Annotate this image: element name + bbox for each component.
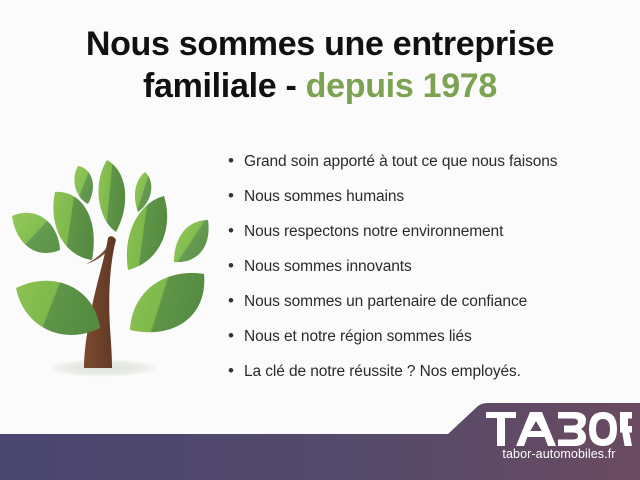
- bullet-icon: •: [228, 152, 244, 169]
- list-item-label: Nous sommes un partenaire de confiance: [244, 293, 527, 311]
- bullet-icon: •: [228, 187, 244, 204]
- list-item: • Nous sommes un partenaire de confiance: [228, 292, 628, 327]
- list-item: • Nous respectons notre environnement: [228, 222, 628, 257]
- list-item: • Nous et notre région sommes liés: [228, 327, 628, 362]
- list-item: • La clé de notre réussite ? Nos employé…: [228, 362, 628, 397]
- page-title: Nous sommes une entreprise familiale - d…: [0, 26, 640, 104]
- tree-leaf-mid-right: [174, 220, 209, 262]
- tree-leaf-lower-left: [16, 281, 100, 335]
- list-item-label: Nous sommes humains: [244, 188, 404, 206]
- list-item: • Grand soin apporté à tout ce que nous …: [228, 152, 628, 187]
- bullet-icon: •: [228, 362, 244, 379]
- title-line-1: Nous sommes une entreprise: [0, 26, 640, 62]
- tree-illustration: [8, 150, 213, 390]
- title-dash: -: [285, 67, 296, 105]
- tree-leaf-upper-right: [127, 196, 167, 270]
- tabor-wordmark-icon: [486, 412, 632, 446]
- list-item-label: La clé de notre réussite ? Nos employés.: [244, 363, 521, 381]
- list-item-label: Nous sommes innovants: [244, 258, 412, 276]
- list-item-label: Grand soin apporté à tout ce que nous fa…: [244, 153, 557, 171]
- slide-canvas: Nous sommes une entreprise familiale - d…: [0, 0, 640, 480]
- list-item: • Nous sommes humains: [228, 187, 628, 222]
- tree-leaf-top-center: [98, 160, 125, 232]
- brand-logo[interactable]: tabor-automobiles.fr: [486, 412, 632, 461]
- list-item-label: Nous respectons notre environnement: [244, 223, 503, 241]
- bullet-icon: •: [228, 257, 244, 274]
- tree-leaf-lower-right: [130, 273, 204, 332]
- tree-leaf-small-left: [74, 166, 93, 204]
- title-accent-since-1978: depuis 1978: [306, 67, 497, 105]
- list-item: • Nous sommes innovants: [228, 257, 628, 292]
- brand-tagline: tabor-automobiles.fr: [486, 447, 632, 461]
- bullet-icon: •: [228, 222, 244, 239]
- list-item-label: Nous et notre région sommes liés: [244, 328, 472, 346]
- bullet-icon: •: [228, 327, 244, 344]
- title-line-2-prefix: familiale: [143, 67, 276, 105]
- bullet-icon: •: [228, 292, 244, 309]
- value-bullet-list: • Grand soin apporté à tout ce que nous …: [228, 152, 628, 397]
- title-line-2: familiale - depuis 1978: [0, 68, 640, 104]
- tree-leaf-mid-left: [12, 213, 60, 253]
